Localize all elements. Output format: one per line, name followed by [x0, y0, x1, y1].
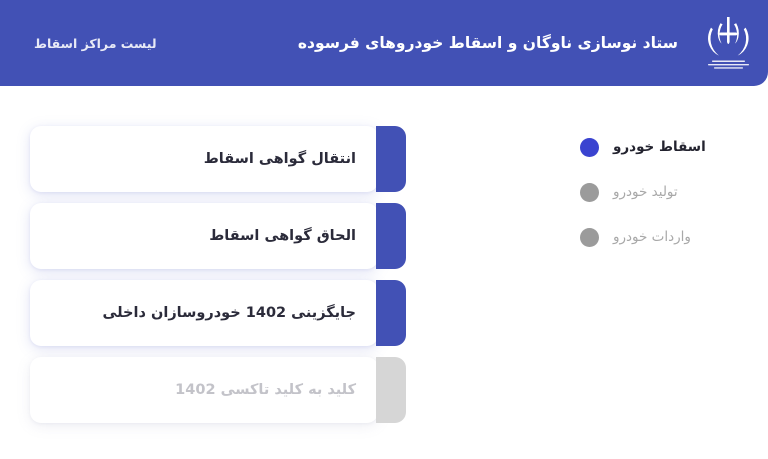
category-radio-group: اسقاط خودرو تولید خودرو واردات خودرو — [580, 132, 750, 252]
card-label: الحاق گواهی اسقاط — [30, 227, 378, 246]
radio-option-import-vehicle[interactable]: واردات خودرو — [580, 222, 750, 252]
card-attach-scrap-certificate[interactable]: الحاق گواهی اسقاط — [30, 203, 378, 269]
card-accent-tab — [376, 280, 406, 346]
action-card-list: انتقال گواهی اسقاط الحاق گواهی اسقاط جای… — [30, 126, 378, 423]
main-content: اسقاط خودرو تولید خودرو واردات خودرو انت… — [0, 86, 768, 459]
radio-option-produce-vehicle[interactable]: تولید خودرو — [580, 177, 750, 207]
card-label: کلید به کلید تاکسی 1402 — [30, 381, 378, 400]
radio-empty-icon — [580, 183, 599, 202]
iran-national-emblem-icon — [682, 0, 768, 86]
card-label: انتقال گواهی اسقاط — [30, 150, 378, 169]
radio-filled-icon — [580, 138, 599, 157]
scrapping-centers-list-link[interactable]: لیست مراکز اسقاط — [0, 36, 157, 51]
card-label: جایگزینی 1402 خودروسازان داخلی — [30, 304, 378, 323]
card-replacement-1402-domestic-automakers[interactable]: جایگزینی 1402 خودروسازان داخلی — [30, 280, 378, 346]
card-accent-tab — [376, 203, 406, 269]
radio-option-scrap-vehicle[interactable]: اسقاط خودرو — [580, 132, 750, 162]
page-title: ستاد نوسازی ناوگان و اسقاط خودروهای فرسو… — [298, 34, 682, 52]
radio-option-label: تولید خودرو — [613, 184, 744, 200]
radio-empty-icon — [580, 228, 599, 247]
radio-option-label: اسقاط خودرو — [613, 139, 744, 155]
card-accent-tab — [376, 126, 406, 192]
app-header: ستاد نوسازی ناوگان و اسقاط خودروهای فرسو… — [0, 0, 768, 86]
card-transfer-scrap-certificate[interactable]: انتقال گواهی اسقاط — [30, 126, 378, 192]
radio-option-label: واردات خودرو — [613, 229, 744, 245]
card-key-to-key-taxi-1402: کلید به کلید تاکسی 1402 — [30, 357, 378, 423]
card-accent-tab — [376, 357, 406, 423]
